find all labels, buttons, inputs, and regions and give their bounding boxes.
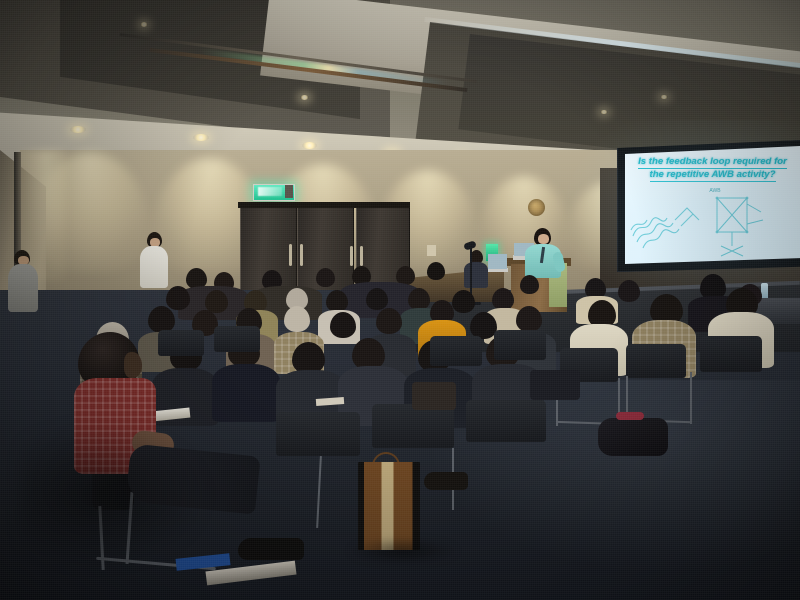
- downlight-2: [193, 134, 209, 141]
- downlight-7: [300, 95, 309, 100]
- door-handle-3[interactable]: [350, 246, 353, 266]
- chair-back-4[interactable]: [494, 330, 546, 360]
- downlight-10: [140, 22, 148, 27]
- door-handle-1[interactable]: [289, 244, 292, 266]
- audience-head-r4-9: [492, 288, 514, 310]
- foreground-attendee-shoe: [238, 538, 304, 560]
- bag-on-floor-right: [530, 370, 580, 400]
- tote-bag: [358, 462, 420, 550]
- presenter-face: [538, 234, 549, 244]
- exit-sign-pictogram: [258, 187, 282, 196]
- audience-body-r2-2: [212, 364, 280, 422]
- chair-back-3[interactable]: [430, 336, 482, 366]
- av-operator-body: [464, 262, 488, 288]
- audience-head-r4-5: [326, 290, 348, 312]
- audience-head-r4-1: [166, 286, 190, 310]
- chair-back-8[interactable]: [276, 412, 360, 456]
- audience-head-r5-7: [427, 262, 445, 280]
- slide-diagram: [629, 190, 799, 260]
- audience-head-r5-8: [520, 275, 539, 294]
- chair-back-10[interactable]: [466, 400, 546, 442]
- chair-leg-4: [690, 372, 692, 424]
- av-laptop-screen: [488, 254, 507, 269]
- backpack-on-floor: [598, 418, 668, 456]
- lecture-hall-photo: Is the feedback loop required for the re…: [0, 0, 800, 600]
- chair-back-9[interactable]: [372, 404, 454, 448]
- audience-head-r4-6: [366, 288, 388, 310]
- leaning-attendee-body: [8, 264, 38, 312]
- chair-back-1[interactable]: [158, 330, 204, 356]
- slide-title-line-1: Is the feedback loop required for: [638, 156, 787, 169]
- door-handle-4[interactable]: [360, 246, 363, 266]
- bag-on-floor-mid: [412, 382, 456, 410]
- audience-head-r3-7: [470, 312, 497, 339]
- audience-head-right-back-2: [618, 280, 640, 302]
- wall-clock: [528, 199, 545, 216]
- wall-switch-plate[interactable]: [427, 245, 436, 256]
- audience-head-r4-7: [408, 288, 430, 310]
- downlight-9: [660, 95, 668, 99]
- door-header-bar: [238, 202, 410, 208]
- attendee-shoe-right: [424, 472, 468, 490]
- door-handle-2[interactable]: [300, 244, 303, 266]
- audience-head-r4-8: [452, 290, 475, 313]
- slide-title: Is the feedback loop required for the re…: [631, 156, 794, 182]
- audience-head-r3-6: [376, 308, 402, 334]
- audience-head-r3-5: [330, 312, 356, 338]
- downlight-1: [70, 126, 86, 133]
- downlight-3: [302, 142, 317, 149]
- standing-attendee-body: [140, 246, 168, 288]
- chair-back-6[interactable]: [626, 344, 686, 378]
- chair-back-2[interactable]: [214, 326, 260, 352]
- foreground-floor-shadow: [20, 420, 210, 570]
- foreground-attendee-face: [124, 352, 142, 378]
- chair-back-7[interactable]: [700, 336, 762, 372]
- audience-head-r3-1: [148, 306, 175, 333]
- slide-title-line-2: the repetitive AWB activity?: [650, 169, 776, 182]
- tote-bag-shadow: [348, 538, 458, 564]
- audience-head-r5-4: [316, 268, 335, 287]
- audience-head-r3-4: [284, 306, 310, 332]
- audience-head-r3-8: [516, 306, 542, 332]
- backpack-strap: [616, 412, 644, 420]
- downlight-8: [600, 110, 608, 114]
- projection-screen: Is the feedback loop required for the re…: [625, 146, 800, 264]
- exit-sign-side-box: [285, 185, 293, 198]
